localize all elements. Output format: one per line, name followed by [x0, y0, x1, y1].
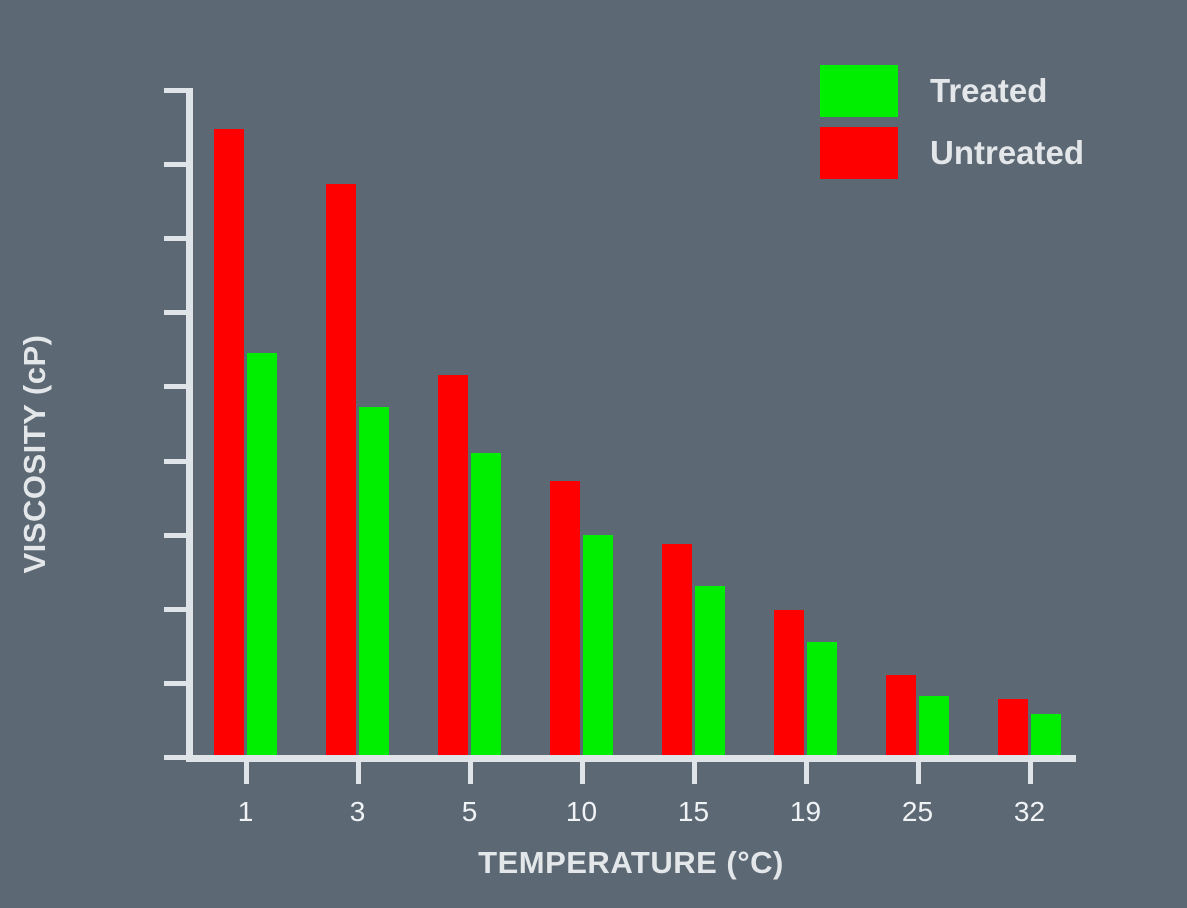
y-tick-mark	[164, 162, 186, 167]
bar-treated	[1031, 714, 1061, 755]
x-axis-line	[186, 755, 1076, 762]
bar-treated	[471, 453, 501, 755]
bar-treated	[247, 353, 277, 755]
x-tick-label: 1	[186, 798, 306, 826]
x-tick-mark	[468, 762, 473, 784]
x-tick-label: 5	[410, 798, 530, 826]
x-tick-mark	[1028, 762, 1033, 784]
x-tick-label: 3	[298, 798, 418, 826]
bar-untreated	[774, 610, 804, 755]
bar-untreated	[998, 699, 1028, 755]
x-tick-mark	[804, 762, 809, 784]
bar-untreated	[886, 675, 916, 755]
x-tick-label: 25	[858, 798, 978, 826]
bar-treated	[919, 696, 949, 755]
y-tick-mark	[164, 755, 186, 760]
y-tick-mark	[164, 681, 186, 686]
x-tick-label: 19	[746, 798, 866, 826]
x-tick-mark	[244, 762, 249, 784]
bar-chart: VISCOSITY (cP) 0200400600800100012001400…	[0, 0, 1187, 908]
y-tick-mark	[164, 607, 186, 612]
y-tick-mark	[164, 236, 186, 241]
x-tick-mark	[916, 762, 921, 784]
x-tick-mark	[580, 762, 585, 784]
bar-untreated	[550, 481, 580, 755]
x-tick-label: 10	[522, 798, 642, 826]
bar-untreated	[326, 184, 356, 755]
legend-swatch	[820, 65, 898, 117]
x-tick-label: 32	[970, 798, 1090, 826]
x-tick-label: 15	[634, 798, 754, 826]
legend-swatch	[820, 127, 898, 179]
plot-area: 020040060080010001200140016001800 135101…	[186, 88, 1076, 760]
legend-label: Untreated	[930, 134, 1084, 172]
y-axis-title: VISCOSITY (cP)	[0, 0, 70, 908]
bar-untreated	[438, 375, 468, 755]
x-tick-mark	[356, 762, 361, 784]
y-tick-mark	[164, 533, 186, 538]
legend-item: Treated	[820, 60, 1084, 122]
bar-untreated	[662, 544, 692, 755]
x-tick-mark	[692, 762, 697, 784]
y-tick-mark	[164, 310, 186, 315]
x-axis-title: TEMPERATURE (°C)	[186, 845, 1076, 881]
bar-treated	[807, 642, 837, 755]
y-tick-mark	[164, 384, 186, 389]
bar-treated	[695, 586, 725, 755]
bar-treated	[583, 535, 613, 755]
legend-label: Treated	[930, 72, 1047, 110]
bar-treated	[359, 407, 389, 755]
y-tick-mark	[164, 459, 186, 464]
bar-untreated	[214, 129, 244, 755]
legend-item: Untreated	[820, 122, 1084, 184]
y-tick-mark	[164, 88, 186, 93]
chart-legend: TreatedUntreated	[820, 60, 1084, 184]
y-axis-line	[186, 88, 193, 760]
